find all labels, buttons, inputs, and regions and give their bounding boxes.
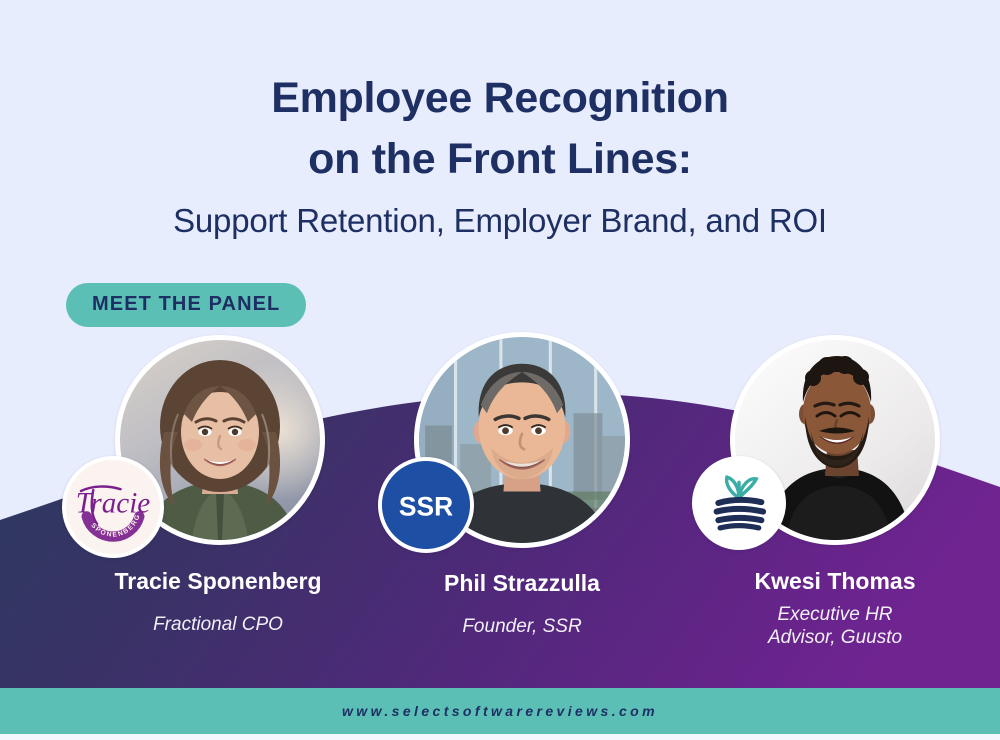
panelist-role-kwesi: Executive HR bbox=[645, 603, 1000, 627]
meet-the-panel-badge: MEET THE PANEL bbox=[66, 283, 306, 327]
brand-logo-ssr: SSR bbox=[378, 457, 474, 553]
guusto-gift-mark bbox=[696, 460, 782, 546]
page-title-line-1: Employee Recognition bbox=[0, 68, 1000, 129]
title-block: Employee Recognition on the Front Lines:… bbox=[0, 68, 1000, 246]
promo-graphic: Employee Recognition on the Front Lines:… bbox=[0, 0, 1000, 740]
ssr-mark: SSR bbox=[382, 461, 470, 549]
page-title-line-2: on the Front Lines: bbox=[0, 129, 1000, 190]
footer-website-url: www.selectsoftwarereviews.com bbox=[342, 703, 658, 719]
footer-bottom-strip bbox=[0, 734, 1000, 740]
footer-bar: www.selectsoftwarereviews.com bbox=[0, 688, 1000, 734]
page-subtitle: Support Retention, Employer Brand, and R… bbox=[0, 196, 1000, 246]
svg-text:SSR: SSR bbox=[399, 492, 453, 522]
tracie-sponenberg-mark: Tracie SPONENBERG bbox=[66, 460, 160, 554]
brand-logo-guusto bbox=[692, 456, 786, 550]
meet-the-panel-label: MEET THE PANEL bbox=[92, 293, 280, 315]
brand-logo-tracie-sponenberg: Tracie SPONENBERG bbox=[62, 456, 164, 558]
panelist-role-kwesi-line-2: Advisor, Guusto bbox=[645, 626, 1000, 650]
panelist-name-kwesi: Kwesi Thomas bbox=[645, 568, 1000, 595]
